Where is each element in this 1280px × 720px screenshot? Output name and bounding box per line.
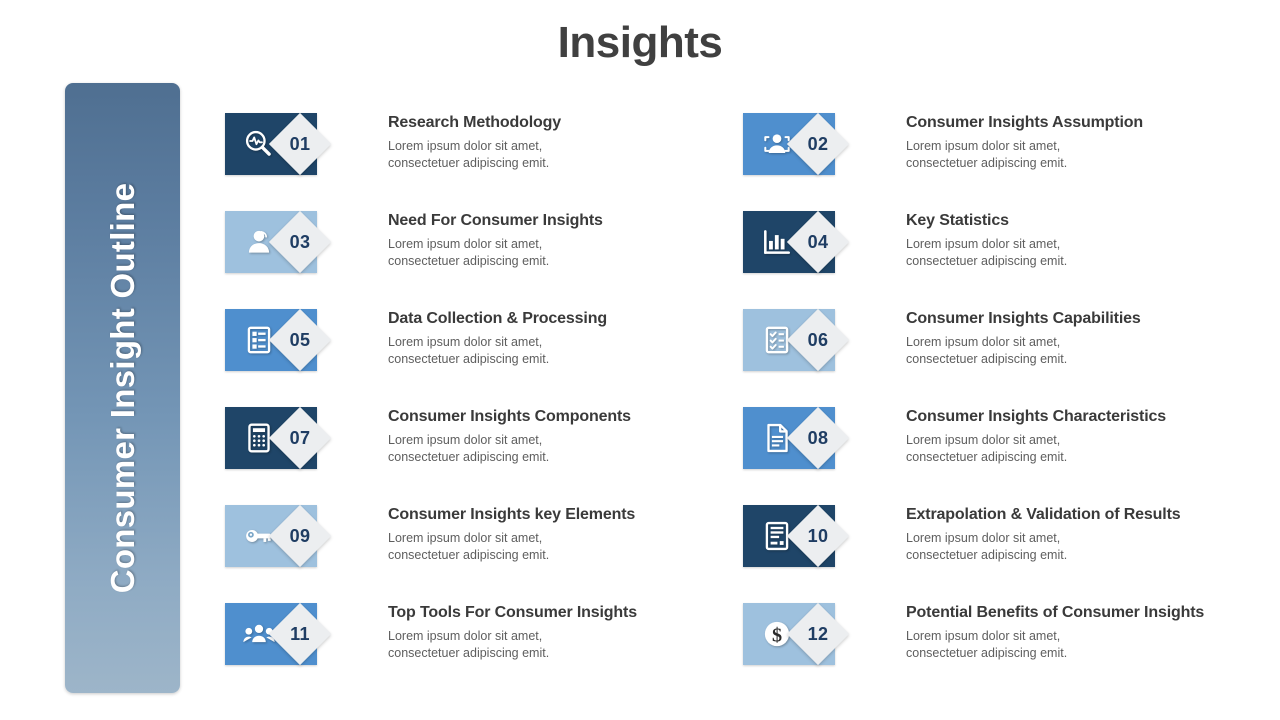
item-description-line2: consectetuer adipiscing emit. [388, 547, 753, 564]
item-description-line2: consectetuer adipiscing emit. [906, 449, 1271, 466]
badge-number: 06 [796, 318, 840, 362]
item-title: Top Tools For Consumer Insights [388, 603, 753, 622]
item-description-line2: consectetuer adipiscing emit. [388, 449, 753, 466]
item-badge[interactable]: 06 [743, 309, 873, 371]
item-description: Lorem ipsum dolor sit amet,consectetuer … [906, 530, 1271, 564]
item-text-block: Consumer Insights AssumptionLorem ipsum … [906, 113, 1271, 172]
item-description: Lorem ipsum dolor sit amet,consectetuer … [388, 138, 753, 172]
insight-item[interactable]: $ 12Potential Benefits of Consumer Insig… [743, 603, 1273, 685]
insight-item[interactable]: 03Need For Consumer InsightsLorem ipsum … [225, 211, 755, 293]
item-title: Consumer Insights key Elements [388, 505, 753, 524]
item-text-block: Data Collection & ProcessingLorem ipsum … [388, 309, 753, 368]
item-description-line1: Lorem ipsum dolor sit amet, [906, 628, 1271, 645]
slide-canvas: Insights Consumer Insight Outline 01Rese… [0, 0, 1280, 720]
insight-item[interactable]: 04Key StatisticsLorem ipsum dolor sit am… [743, 211, 1273, 293]
item-badge[interactable]: 05 [225, 309, 355, 371]
badge-number: 05 [278, 318, 322, 362]
item-title: Extrapolation & Validation of Results [906, 505, 1271, 524]
item-badge[interactable]: 03 [225, 211, 355, 273]
item-title: Need For Consumer Insights [388, 211, 753, 230]
badge-number: 12 [796, 612, 840, 656]
item-description-line2: consectetuer adipiscing emit. [388, 155, 753, 172]
item-description-line1: Lorem ipsum dolor sit amet, [388, 236, 753, 253]
item-text-block: Top Tools For Consumer InsightsLorem ips… [388, 603, 753, 662]
item-badge[interactable]: 02 [743, 113, 873, 175]
item-badge[interactable]: 07 [225, 407, 355, 469]
item-text-block: Research MethodologyLorem ipsum dolor si… [388, 113, 753, 172]
item-text-block: Consumer Insights CharacteristicsLorem i… [906, 407, 1271, 466]
item-text-block: Extrapolation & Validation of ResultsLor… [906, 505, 1271, 564]
svg-text:$: $ [772, 625, 782, 647]
item-description: Lorem ipsum dolor sit amet,consectetuer … [388, 432, 753, 466]
item-text-block: Consumer Insights ComponentsLorem ipsum … [388, 407, 753, 466]
item-description-line1: Lorem ipsum dolor sit amet, [388, 628, 753, 645]
badge-number: 08 [796, 416, 840, 460]
item-badge[interactable]: $ 12 [743, 603, 873, 665]
item-description: Lorem ipsum dolor sit amet,consectetuer … [388, 628, 753, 662]
item-title: Consumer Insights Components [388, 407, 753, 426]
item-title: Research Methodology [388, 113, 753, 132]
item-description-line2: consectetuer adipiscing emit. [906, 351, 1271, 368]
items-grid: 01Research MethodologyLorem ipsum dolor … [0, 0, 1280, 720]
insight-item[interactable]: 06Consumer Insights CapabilitiesLorem ip… [743, 309, 1273, 391]
badge-number: 11 [278, 612, 322, 656]
item-description-line1: Lorem ipsum dolor sit amet, [906, 432, 1271, 449]
item-description: Lorem ipsum dolor sit amet,consectetuer … [388, 334, 753, 368]
item-badge[interactable]: 09 [225, 505, 355, 567]
item-badge[interactable]: 01 [225, 113, 355, 175]
item-title: Potential Benefits of Consumer Insights [906, 603, 1271, 622]
item-title: Key Statistics [906, 211, 1271, 230]
badge-number: 07 [278, 416, 322, 460]
insight-item[interactable]: 09Consumer Insights key ElementsLorem ip… [225, 505, 755, 587]
item-title: Consumer Insights Assumption [906, 113, 1271, 132]
item-text-block: Consumer Insights key ElementsLorem ipsu… [388, 505, 753, 564]
item-badge[interactable]: 11 [225, 603, 355, 665]
item-description-line1: Lorem ipsum dolor sit amet, [388, 530, 753, 547]
item-badge[interactable]: 10 [743, 505, 873, 567]
item-description-line2: consectetuer adipiscing emit. [388, 253, 753, 270]
item-description-line2: consectetuer adipiscing emit. [906, 645, 1271, 662]
item-description-line2: consectetuer adipiscing emit. [388, 351, 753, 368]
item-description-line2: consectetuer adipiscing emit. [906, 253, 1271, 270]
item-description-line1: Lorem ipsum dolor sit amet, [388, 432, 753, 449]
item-text-block: Need For Consumer InsightsLorem ipsum do… [388, 211, 753, 270]
badge-number: 03 [278, 220, 322, 264]
item-title: Consumer Insights Capabilities [906, 309, 1271, 328]
item-description-line2: consectetuer adipiscing emit. [906, 155, 1271, 172]
badge-number: 10 [796, 514, 840, 558]
insight-item[interactable]: 07Consumer Insights ComponentsLorem ipsu… [225, 407, 755, 489]
item-title: Data Collection & Processing [388, 309, 753, 328]
insight-item[interactable]: 05Data Collection & ProcessingLorem ipsu… [225, 309, 755, 391]
item-description: Lorem ipsum dolor sit amet,consectetuer … [906, 432, 1271, 466]
item-description-line1: Lorem ipsum dolor sit amet, [906, 334, 1271, 351]
item-description-line1: Lorem ipsum dolor sit amet, [906, 530, 1271, 547]
item-badge[interactable]: 08 [743, 407, 873, 469]
item-description-line1: Lorem ipsum dolor sit amet, [388, 334, 753, 351]
item-description: Lorem ipsum dolor sit amet,consectetuer … [906, 236, 1271, 270]
item-description: Lorem ipsum dolor sit amet,consectetuer … [906, 334, 1271, 368]
badge-number: 04 [796, 220, 840, 264]
badge-number: 02 [796, 122, 840, 166]
item-title: Consumer Insights Characteristics [906, 407, 1271, 426]
item-text-block: Potential Benefits of Consumer InsightsL… [906, 603, 1271, 662]
item-description-line1: Lorem ipsum dolor sit amet, [906, 236, 1271, 253]
item-description: Lorem ipsum dolor sit amet,consectetuer … [388, 236, 753, 270]
item-text-block: Consumer Insights CapabilitiesLorem ipsu… [906, 309, 1271, 368]
item-description-line2: consectetuer adipiscing emit. [906, 547, 1271, 564]
insight-item[interactable]: 11Top Tools For Consumer InsightsLorem i… [225, 603, 755, 685]
insight-item[interactable]: 10Extrapolation & Validation of ResultsL… [743, 505, 1273, 587]
item-description-line2: consectetuer adipiscing emit. [388, 645, 753, 662]
item-description-line1: Lorem ipsum dolor sit amet, [388, 138, 753, 155]
insight-item[interactable]: 01Research MethodologyLorem ipsum dolor … [225, 113, 755, 195]
insight-item[interactable]: 02Consumer Insights AssumptionLorem ipsu… [743, 113, 1273, 195]
badge-number: 01 [278, 122, 322, 166]
item-description: Lorem ipsum dolor sit amet,consectetuer … [906, 138, 1271, 172]
insight-item[interactable]: 08Consumer Insights CharacteristicsLorem… [743, 407, 1273, 489]
item-text-block: Key StatisticsLorem ipsum dolor sit amet… [906, 211, 1271, 270]
item-badge[interactable]: 04 [743, 211, 873, 273]
badge-number: 09 [278, 514, 322, 558]
item-description-line1: Lorem ipsum dolor sit amet, [906, 138, 1271, 155]
item-description: Lorem ipsum dolor sit amet,consectetuer … [906, 628, 1271, 662]
item-description: Lorem ipsum dolor sit amet,consectetuer … [388, 530, 753, 564]
